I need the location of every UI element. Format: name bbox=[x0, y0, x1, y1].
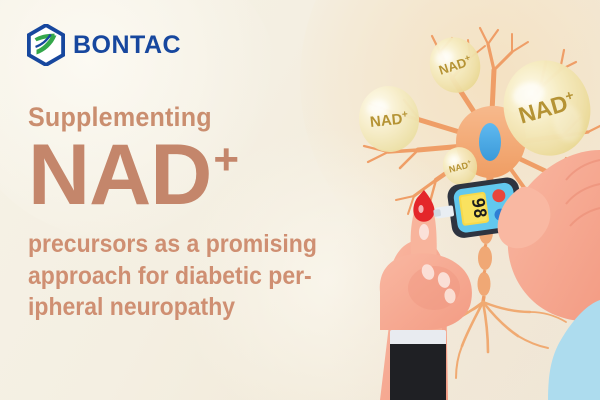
hero-superscript: + bbox=[213, 135, 238, 184]
brand-name: BONTAC bbox=[73, 33, 181, 58]
headline-block: Supplementing NAD+ precursors as a promi… bbox=[28, 104, 358, 323]
hero-word: NAD bbox=[28, 127, 211, 223]
hexagon-leaf-logo-icon bbox=[27, 24, 65, 66]
headline-body-line-2: approach for diabetic per- bbox=[28, 262, 312, 290]
headline-hero: NAD+ bbox=[28, 133, 358, 217]
brand-logo[interactable]: BONTAC bbox=[27, 24, 181, 66]
promo-banner: NAD+ NAD+ NAD+ NAD+ bbox=[0, 0, 600, 400]
headline-body-line-1: precursors as a promising bbox=[28, 230, 317, 258]
headline-body-line-3: ipheral neuropathy bbox=[28, 293, 235, 321]
headline-body: precursors as a promising approach for d… bbox=[28, 229, 332, 323]
